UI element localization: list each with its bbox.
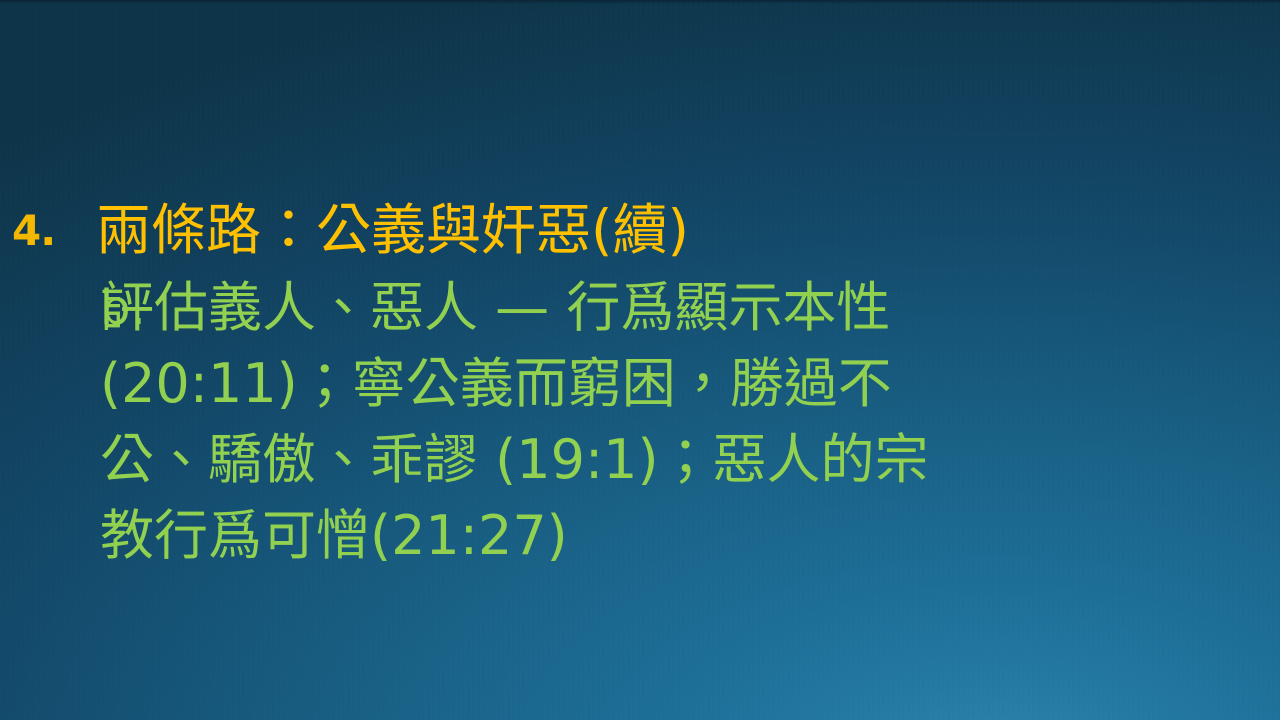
heading-block: 4. 兩條路：公義與奸惡(續)	[0, 196, 1280, 266]
subpoint-text: 評估義人、惡人 — 行爲顯示本性 (20:11)；寧公義而窮困，勝過不 公、驕傲…	[100, 270, 1120, 574]
subpoint-line-2: (20:11)；寧公義而窮困，勝過不	[100, 346, 1120, 422]
presentation-slide: 4. 兩條路：公義與奸惡(續) b. 評估義人、惡人 — 行爲顯示本性 (20:…	[0, 0, 1280, 720]
subpoint-line-1: 評估義人、惡人 — 行爲顯示本性	[100, 270, 1120, 346]
subpoint-block: b. 評估義人、惡人 — 行爲顯示本性 (20:11)；寧公義而窮困，勝過不 公…	[0, 270, 1280, 574]
slide-top-edge	[0, 0, 1280, 4]
heading-text: 兩條路：公義與奸惡(續)	[96, 196, 1280, 264]
subpoint-line-3: 公、驕傲、乖謬 (19:1)；惡人的宗	[100, 422, 1120, 498]
heading-marker: 4.	[0, 196, 96, 266]
slide-content: 4. 兩條路：公義與奸惡(續) b. 評估義人、惡人 — 行爲顯示本性 (20:…	[0, 196, 1280, 574]
subpoint-marker: b.	[0, 270, 100, 346]
subpoint-line-4: 教行爲可憎(21:27)	[100, 498, 1120, 574]
